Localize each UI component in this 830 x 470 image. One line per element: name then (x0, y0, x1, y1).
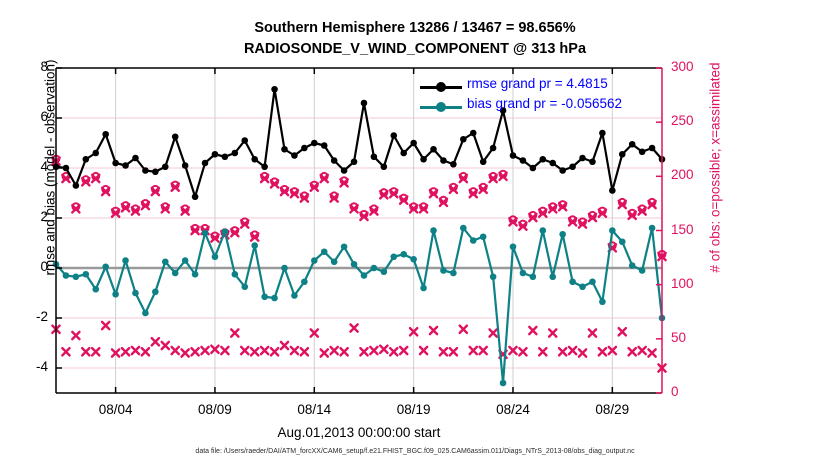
series-point (271, 86, 278, 93)
series-point (321, 248, 328, 255)
series-point (102, 263, 109, 270)
series-point (172, 270, 179, 277)
y-tick-left: -4 (2, 359, 48, 374)
series-point (241, 137, 248, 144)
series-point (281, 146, 288, 153)
series-point (549, 160, 556, 167)
series-point (182, 257, 189, 264)
series-point (539, 227, 546, 234)
y-tick-right: 300 (671, 59, 717, 74)
series-point (500, 380, 507, 387)
series-point (222, 228, 229, 235)
series-point (579, 155, 586, 162)
series-point (639, 148, 646, 155)
series-point (142, 310, 149, 317)
series-point (470, 237, 477, 244)
series-point (599, 130, 606, 137)
series-point (470, 130, 477, 137)
legend-marker-rmse (436, 82, 446, 92)
series-point (371, 265, 378, 272)
series-point (92, 150, 99, 157)
series-point (609, 227, 616, 234)
series-point (83, 271, 90, 278)
series-point (649, 225, 656, 232)
series-point (351, 261, 358, 268)
series-point (420, 156, 427, 163)
series-point (351, 158, 358, 165)
series-point (212, 151, 219, 158)
series-point (251, 156, 258, 163)
legend-item-bias: bias grand pr = -0.056562 (417, 98, 655, 116)
series-point (152, 288, 159, 295)
series-point (291, 152, 298, 159)
legend-item-rmse: rmse grand pr = 4.4815 (417, 78, 655, 96)
chart-title-line1: Southern Hemisphere 13286 / 13467 = 98.6… (0, 20, 830, 36)
x-tick: 08/04 (81, 402, 151, 417)
y-tick-left: 6 (2, 109, 48, 124)
x-tick: 08/29 (577, 402, 647, 417)
x-tick: 08/24 (478, 402, 548, 417)
series-point (510, 243, 517, 250)
figure-canvas: Southern Hemisphere 13286 / 13467 = 98.6… (0, 0, 830, 470)
series-point (311, 257, 318, 264)
series-point (192, 271, 199, 278)
series-point (510, 152, 517, 159)
series-point (321, 142, 328, 149)
series-point (520, 157, 527, 164)
series-point (539, 156, 546, 163)
series-point (212, 253, 219, 260)
series-point (122, 257, 129, 264)
legend-label-rmse: rmse grand pr = 4.4815 (467, 76, 608, 91)
series-point (649, 145, 656, 152)
series-point (559, 231, 566, 238)
series-point (400, 150, 407, 157)
series-point (142, 167, 149, 174)
series-point (112, 291, 119, 298)
series-point (73, 273, 80, 280)
series-point (232, 271, 239, 278)
series-point (460, 225, 467, 232)
y-tick-right: 100 (671, 276, 717, 291)
series-point (241, 283, 248, 290)
series-point (549, 273, 556, 280)
series-point (619, 151, 626, 158)
series-point (480, 158, 487, 165)
series-point (202, 230, 209, 237)
series-point (202, 160, 209, 167)
series-point (371, 153, 378, 160)
series-point (232, 150, 239, 157)
series-point (63, 272, 70, 279)
series-point (311, 140, 318, 147)
series-point (152, 168, 159, 175)
series-point (192, 193, 199, 200)
chart-title-line2: RADIOSONDE_V_WIND_COMPONENT @ 313 hPa (0, 41, 830, 57)
series-point (331, 157, 338, 164)
series-point (341, 167, 348, 174)
series-point (639, 267, 646, 274)
y-tick-right: 250 (671, 113, 717, 128)
series-point (589, 278, 596, 285)
series-point (440, 157, 447, 164)
series-point (629, 262, 636, 269)
series-point (569, 163, 576, 170)
series-point (132, 290, 139, 297)
series-point (381, 163, 388, 170)
y-tick-right: 200 (671, 167, 717, 182)
legend-label-bias: bias grand pr = -0.056562 (467, 96, 622, 111)
series-point (599, 298, 606, 305)
series-point (629, 141, 636, 148)
series-point (172, 133, 179, 140)
y-tick-left: 4 (2, 159, 48, 174)
x-tick: 08/19 (379, 402, 449, 417)
series-point (390, 132, 397, 139)
y-tick-left: 8 (2, 59, 48, 74)
series-point (73, 182, 80, 189)
series-point (559, 167, 566, 174)
series-point (182, 162, 189, 169)
series-point (450, 270, 457, 277)
y-tick-right: 150 (671, 222, 717, 237)
series-point (619, 238, 626, 245)
y-tick-left: -2 (2, 309, 48, 324)
series-point (301, 278, 308, 285)
series-point (400, 251, 407, 258)
series-point (261, 293, 268, 300)
series-point (271, 295, 278, 302)
series-point (490, 145, 497, 152)
series-point (341, 243, 348, 250)
x-tick: 08/09 (180, 402, 250, 417)
series-point (530, 273, 537, 280)
series-point (361, 100, 368, 107)
series-point (569, 278, 576, 285)
series-point (381, 268, 388, 275)
series-point (430, 227, 437, 234)
series-point (261, 163, 268, 170)
y-tick-right: 0 (671, 384, 717, 399)
series-point (589, 158, 596, 165)
legend-marker-bias (436, 102, 446, 112)
series-point (331, 258, 338, 265)
series-point (440, 267, 447, 274)
x-axis-label: Aug.01,2013 00:00:00 start (56, 425, 662, 440)
series-point (92, 286, 99, 293)
series-point (579, 283, 586, 290)
series-point (530, 165, 537, 172)
series-point (281, 265, 288, 272)
y-tick-left: 0 (2, 259, 48, 274)
series-point (291, 292, 298, 299)
series-point (420, 285, 427, 292)
series-point (102, 131, 109, 138)
y-tick-right: 50 (671, 330, 717, 345)
series-point (460, 136, 467, 143)
series-point (162, 163, 169, 170)
series-point (63, 165, 70, 172)
series-point (480, 233, 487, 240)
series-point (222, 153, 229, 160)
series-point (83, 156, 90, 163)
series-point (112, 160, 119, 167)
data-file-footer: data file: /Users/raeder/DAI/ATM_forcXX/… (0, 448, 830, 455)
series-point (609, 187, 616, 194)
series-point (132, 155, 139, 162)
legend: rmse grand pr = 4.4815 bias grand pr = -… (417, 78, 655, 118)
series-point (430, 146, 437, 153)
x-tick: 08/14 (279, 402, 349, 417)
series-point (450, 161, 457, 168)
series-point (251, 242, 258, 249)
series-point (301, 145, 308, 152)
series-point (361, 272, 368, 279)
series-point (410, 256, 417, 263)
series-point (490, 273, 497, 280)
series-point (122, 162, 129, 169)
series-point (520, 270, 527, 277)
y-tick-left: 2 (2, 209, 48, 224)
series-point (162, 258, 169, 265)
series-point (410, 140, 417, 147)
series-point (390, 253, 397, 260)
